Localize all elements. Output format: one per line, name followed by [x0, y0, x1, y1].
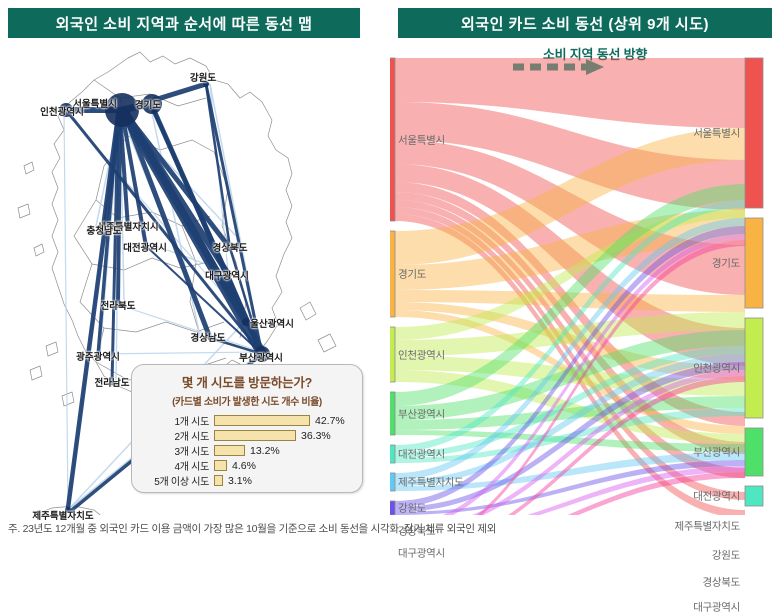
sankey-left-node-label: 서울특별시	[398, 133, 445, 148]
consumption-route-map-panel: 외국인 소비 지역과 순서에 따른 동선 맵	[0, 0, 390, 515]
map-label: 울산광역시	[250, 316, 294, 330]
visit-count-legend-card: 몇 개 시도를 방문하는가? (카드별 소비가 발생한 시도 개수 비율) 1개…	[131, 364, 363, 493]
legend-row: 3개 시도 13.2%	[132, 443, 362, 458]
map-label: 경상남도	[191, 330, 226, 344]
sankey-left-node-label: 강원도	[398, 501, 426, 516]
left-panel-title: 외국인 소비 지역과 순서에 따른 동선 맵	[8, 8, 360, 38]
legend-row-bar	[214, 430, 296, 441]
sankey-right-node-label: 대전광역시	[693, 489, 740, 504]
legend-row-value: 13.2%	[245, 445, 280, 457]
map-label: 전라북도	[101, 298, 136, 312]
map-label: 전라남도	[95, 375, 130, 389]
map-label: 제주특별자치도	[32, 508, 93, 522]
sankey-left-node-label: 경기도	[398, 267, 426, 282]
legend-row-value: 3.1%	[223, 475, 252, 487]
legend-row-label: 2개 시도	[132, 428, 214, 443]
map-label: 강원도	[190, 70, 216, 84]
map-label: 대전광역시	[123, 240, 167, 254]
legend-subtitle: (카드별 소비가 발생한 시도 개수 비율)	[132, 393, 362, 408]
map-label: 대구광역시	[205, 268, 249, 282]
sankey-left-node-label: 대전광역시	[398, 447, 445, 462]
legend-row-value: 42.7%	[310, 415, 345, 427]
right-panel-title: 외국인 카드 소비 동선 (상위 9개 시도)	[398, 8, 772, 38]
sankey-left-node-label: 인천광역시	[398, 348, 445, 363]
legend-row-label: 4개 시도	[132, 458, 214, 473]
map-label: 광주광역시	[76, 349, 120, 363]
sankey-right-node-label: 대구광역시	[693, 600, 740, 615]
sankey-right-node-label: 강원도	[712, 548, 740, 563]
sankey-left-node-label: 제주특별자치도	[398, 475, 464, 490]
sankey-right-node-label: 서울특별시	[693, 126, 740, 141]
legend-row-value: 4.6%	[227, 460, 256, 472]
sankey-right-node-label: 부산광역시	[693, 445, 740, 460]
legend-row: 4개 시도 4.6%	[132, 458, 362, 473]
map-label: 경상북도	[213, 240, 248, 254]
map-label: 경기도	[135, 97, 161, 111]
legend-row-bar	[214, 415, 310, 426]
sankey-diagram[interactable]: 소비 지역 동선 방향	[390, 40, 780, 515]
legend-row-label: 1개 시도	[132, 413, 214, 428]
sankey-right-node-label: 인천광역시	[693, 361, 740, 376]
legend-row: 1개 시도 42.7%	[132, 413, 362, 428]
legend-bar-list: 1개 시도 42.7% 2개 시도 36.3% 3개 시도 13.2% 4개 시…	[132, 413, 362, 488]
sankey-right-node-label: 경기도	[712, 256, 740, 271]
legend-row-bar	[214, 460, 227, 471]
footnote: 주. 23년도 12개월 중 외국인 카드 이용 금액이 가장 많은 10월을 …	[8, 521, 778, 536]
map-label: 충청남도	[87, 223, 122, 237]
sankey-flow-panel: 외국인 카드 소비 동선 (상위 9개 시도) 소비 지역 동선 방향	[390, 0, 780, 515]
legend-row: 2개 시도 36.3%	[132, 428, 362, 443]
legend-row-value: 36.3%	[296, 430, 331, 442]
legend-row: 5개 이상 시도 3.1%	[132, 473, 362, 488]
sankey-right-nodes	[745, 58, 763, 515]
sankey-left-node-label: 부산광역시	[398, 407, 445, 422]
sankey-right-node-label: 경상북도	[703, 575, 740, 590]
map-label: 부산광역시	[239, 350, 283, 364]
legend-row-bar	[214, 475, 223, 486]
map-label: 인천광역시	[40, 104, 84, 118]
legend-row-bar	[214, 445, 245, 456]
sankey-left-nodes	[390, 58, 395, 515]
legend-row-label: 3개 시도	[132, 443, 214, 458]
legend-title: 몇 개 시도를 방문하는가?	[132, 372, 362, 391]
sankey-left-node-label: 대구광역시	[398, 546, 445, 561]
legend-row-label: 5개 이상 시도	[132, 473, 214, 488]
